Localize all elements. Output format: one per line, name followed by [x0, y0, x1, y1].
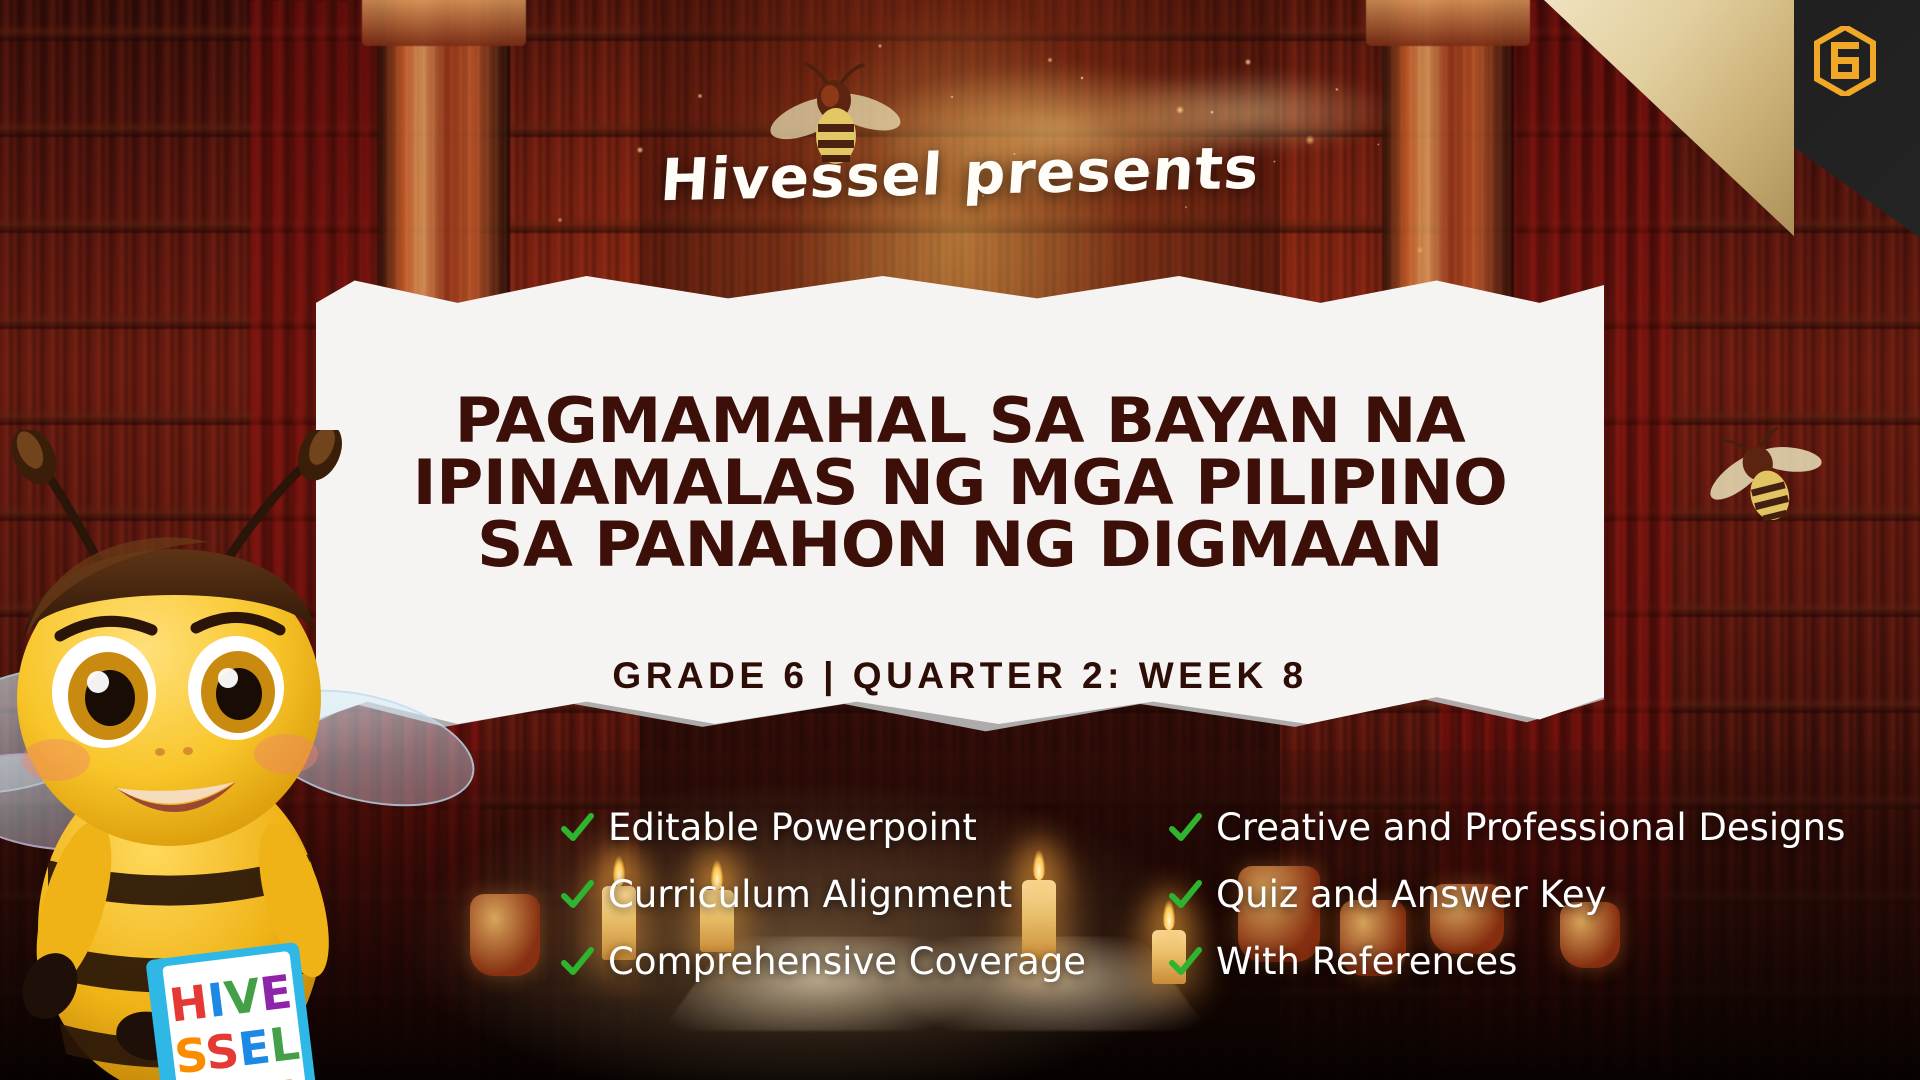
feature-label: Creative and Professional Designs	[1216, 806, 1845, 849]
check-icon	[1168, 811, 1202, 845]
check-icon	[1168, 878, 1202, 912]
title-line: SA PANAHON NG DIGMAAN	[290, 514, 1630, 576]
feature-label: Editable Powerpoint	[608, 806, 977, 849]
hexagon-hivessel-logo-icon[interactable]	[1814, 26, 1876, 96]
list-item: With References	[1168, 940, 1908, 983]
title-line: PAGMAMAHAL SA BAYAN NA	[290, 390, 1630, 452]
feature-column-left: Editable Powerpoint Curriculum Alignment…	[560, 806, 1120, 1007]
feature-column-right: Creative and Professional Designs Quiz a…	[1168, 806, 1908, 1007]
slide-root: Hivessel presents PAGMAMAHAL SA BAYAN NA…	[0, 0, 1920, 1080]
check-icon	[1168, 945, 1202, 979]
list-item: Creative and Professional Designs	[1168, 806, 1908, 849]
check-icon	[560, 945, 594, 979]
feature-label: With References	[1216, 940, 1517, 983]
check-icon	[560, 878, 594, 912]
grade-quarter-week-label: GRADE 6 | QUARTER 2: WEEK 8	[316, 655, 1604, 697]
title-line: IPINAMALAS NG MGA PILIPINO	[290, 452, 1630, 514]
feature-label: Curriculum Alignment	[608, 873, 1012, 916]
bee-mascot-icon: HIVE SSEL 35 15 SOLD	[0, 430, 484, 1080]
feature-label: Quiz and Answer Key	[1216, 873, 1607, 916]
list-item: Quiz and Answer Key	[1168, 873, 1908, 916]
page-title: PAGMAMAHAL SA BAYAN NA IPINAMALAS NG MGA…	[290, 390, 1630, 576]
list-item: Comprehensive Coverage	[560, 940, 1120, 983]
feature-label: Comprehensive Coverage	[608, 940, 1086, 983]
list-item: Curriculum Alignment	[560, 873, 1120, 916]
check-icon	[560, 811, 594, 845]
list-item: Editable Powerpoint	[560, 806, 1120, 849]
